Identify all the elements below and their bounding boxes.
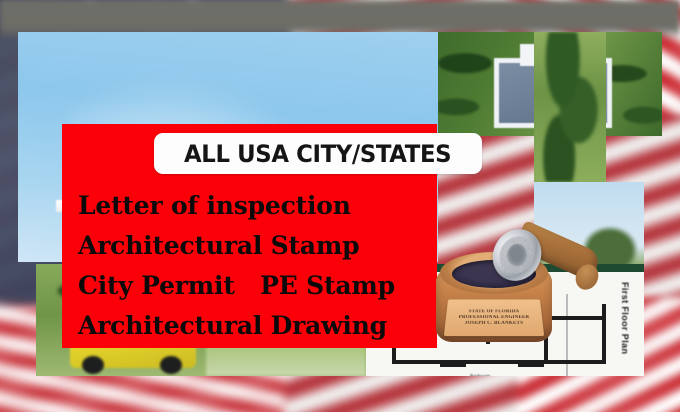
vehicle-wheel-front (82, 356, 104, 374)
stamp-label-line-1: STATE OF FLORIDA (469, 309, 520, 314)
plan-room-label: Bedroom (470, 374, 490, 376)
title-badge: ALL USA CITY/STATES (154, 133, 482, 174)
service-line-2: Architectural Stamp (78, 226, 436, 266)
stamp-label-line-3: JOSEPH C. BLANKETS (465, 320, 524, 325)
service-line-4: Architectural Drawing (78, 306, 436, 346)
plan-wall (392, 360, 606, 364)
rubber-stamp-graphic: STATE OF FLORIDA PROFESSIONAL ENGINEER J… (424, 228, 600, 360)
service-line-1: Letter of inspection (78, 186, 436, 226)
green-yard-photo (534, 32, 606, 182)
plan-footing (518, 360, 544, 367)
plan-wall (602, 304, 606, 364)
thumbnail-canvas: Bedroom First Floor Plan ALL USA CITY/ST… (0, 0, 680, 412)
service-list: Letter of inspection Architectural Stamp… (78, 186, 436, 346)
stamp-pad-label: STATE OF FLORIDA PROFESSIONAL ENGINEER J… (444, 299, 544, 336)
vehicle-wheel-rear (160, 356, 182, 374)
stamp-label-line-2: PROFESSIONAL ENGINEER (458, 315, 529, 320)
service-line-3: City Permit PE Stamp (78, 266, 436, 306)
headline-panel: ALL USA CITY/STATES Letter of inspection… (62, 124, 437, 348)
title-badge-label: ALL USA CITY/STATES (184, 140, 451, 168)
plan-title-label: First Floor Plan (620, 282, 630, 354)
plan-footing (440, 360, 466, 367)
